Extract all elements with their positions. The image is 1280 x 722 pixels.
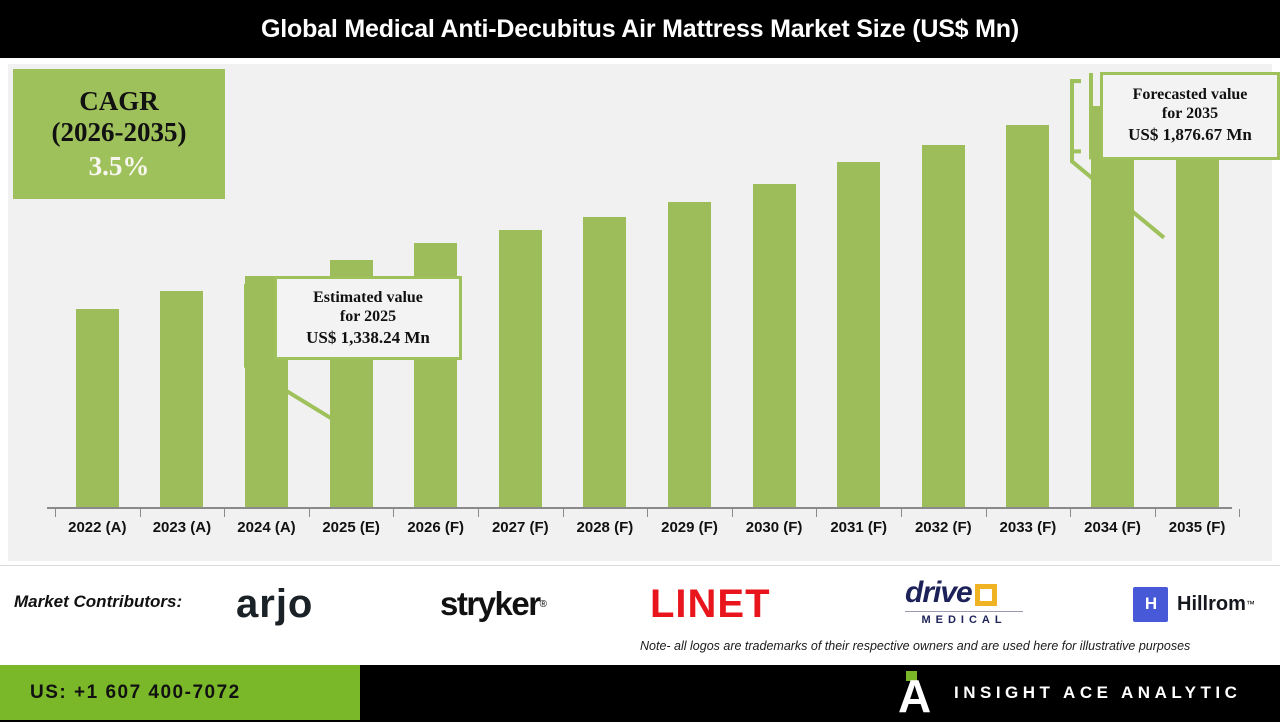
market-contributors-label: Market Contributors: [14, 592, 182, 612]
drive-square-icon [975, 584, 997, 606]
logo-stryker-text: stryker [440, 585, 540, 623]
x-label-2022: 2022 (A) [55, 519, 140, 536]
x-tick [647, 509, 648, 517]
footer-phone-block: US: +1 607 400-7072 [0, 665, 360, 720]
trademark-note: Note- all logos are trademarks of their … [640, 638, 1276, 655]
bar-2030 [753, 184, 796, 507]
x-tick [986, 509, 987, 517]
callout-forecasted-2035: Forecasted value for 2035 US$ 1,876.67 M… [1100, 72, 1280, 160]
title-bar: Global Medical Anti-Decubitus Air Mattre… [0, 0, 1280, 58]
hillrom-badge-icon: H [1133, 587, 1168, 622]
x-tick [816, 509, 817, 517]
logo-drive-row: drive [905, 576, 997, 610]
x-axis-line [47, 507, 1232, 509]
logo-arjo-text: arjo [236, 582, 313, 627]
x-label-2030: 2030 (F) [732, 519, 817, 536]
logo-hillrom-text: Hillrom [1177, 593, 1246, 616]
x-label-2034: 2034 (F) [1070, 519, 1155, 536]
footer-bar: US: +1 607 400-7072 A INSIGHT ACE ANALYT… [0, 665, 1280, 720]
insightace-logo-icon: A [898, 672, 932, 714]
bar-2022 [76, 309, 119, 507]
plot-area: CAGR (2026-2035) 3.5% 2022 (A)2023 (A)20… [8, 64, 1272, 561]
logo-drive-medical: drive MEDICAL [905, 576, 1023, 624]
bar-2031 [837, 162, 880, 507]
callout-fc-line1: Forecasted value [1103, 86, 1277, 105]
x-tick [1239, 509, 1240, 517]
x-label-2028: 2028 (F) [563, 519, 648, 536]
chart-panel: CAGR (2026-2035) 3.5% 2022 (A)2023 (A)20… [0, 58, 1280, 565]
x-label-2023: 2023 (A) [140, 519, 225, 536]
bar-2029 [668, 202, 711, 507]
logo-drive-text: drive [905, 576, 972, 610]
logo-drive-subtext: MEDICAL [905, 611, 1023, 626]
x-label-2024: 2024 (A) [224, 519, 309, 536]
trademark-icon: ™ [1246, 599, 1255, 609]
x-tick [563, 509, 564, 517]
callout-estimated-2025: Estimated value for 2025 US$ 1,338.24 Mn [274, 276, 462, 360]
x-tick [1155, 509, 1156, 517]
logo-arjo: arjo [236, 580, 313, 628]
logo-letter-a: A [898, 678, 931, 714]
footer-phone[interactable]: US: +1 607 400-7072 [30, 682, 241, 704]
x-tick [1070, 509, 1071, 517]
x-label-2026: 2026 (F) [393, 519, 478, 536]
x-label-2029: 2029 (F) [647, 519, 732, 536]
x-label-2027: 2027 (F) [478, 519, 563, 536]
x-tick [901, 509, 902, 517]
x-label-2025: 2025 (E) [309, 519, 394, 536]
callout-fc-line2: for 2035 [1103, 105, 1277, 124]
logo-stryker: stryker ® [440, 580, 547, 628]
x-tick [732, 509, 733, 517]
bar-2032 [922, 145, 965, 507]
bar-2023 [160, 291, 203, 507]
callout-fc-value: US$ 1,876.67 Mn [1103, 125, 1277, 145]
x-label-2035: 2035 (F) [1155, 519, 1240, 536]
bars-layer [8, 64, 1272, 561]
bar-2034 [1091, 106, 1134, 507]
hillrom-badge-letter: H [1145, 594, 1156, 614]
x-tick [478, 509, 479, 517]
footer-brand-text: INSIGHT ACE ANALYTIC [954, 683, 1241, 703]
market-contributors-bar: Market Contributors: arjo stryker ® LINE… [0, 565, 1280, 666]
x-label-2032: 2032 (F) [901, 519, 986, 536]
x-axis-labels: 2022 (A)2023 (A)2024 (A)2025 (E)2026 (F)… [8, 519, 1272, 549]
bar-2028 [583, 217, 626, 507]
callout-est-line1: Estimated value [277, 289, 459, 308]
bar-2033 [1006, 125, 1049, 507]
footer-brand: A INSIGHT ACE ANALYTIC [898, 665, 1241, 720]
x-tick [224, 509, 225, 517]
x-tick [309, 509, 310, 517]
logo-hillrom: H Hillrom ™ [1133, 580, 1255, 628]
callout-est-value: US$ 1,338.24 Mn [277, 328, 459, 348]
page-title: Global Medical Anti-Decubitus Air Mattre… [261, 15, 1019, 44]
registered-trademark-icon: ® [540, 599, 547, 610]
x-tick [140, 509, 141, 517]
bar-2027 [499, 230, 542, 507]
callout-est-line2: for 2025 [277, 308, 459, 327]
x-label-2031: 2031 (F) [816, 519, 901, 536]
logo-linet-text: LINET [650, 582, 771, 627]
x-tick [393, 509, 394, 517]
x-tick [55, 509, 56, 517]
logo-linet: LINET [650, 580, 771, 628]
x-label-2033: 2033 (F) [986, 519, 1071, 536]
infographic-root: Global Medical Anti-Decubitus Air Mattre… [0, 0, 1280, 720]
